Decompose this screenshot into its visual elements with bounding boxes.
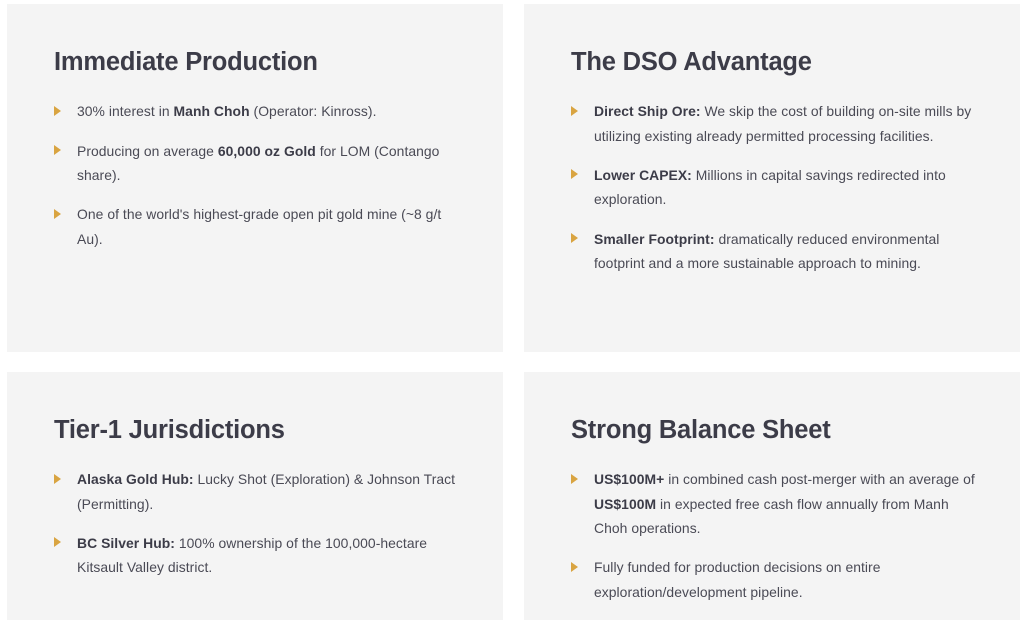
list-item: US$100M+ in combined cash post-merger wi… [571, 467, 980, 540]
list-item-text: 30% interest in Manh Choh (Operator: Kin… [77, 103, 376, 119]
list-item-text: BC Silver Hub: 100% ownership of the 100… [77, 535, 427, 575]
list-item: 30% interest in Manh Choh (Operator: Kin… [54, 99, 463, 123]
triangle-right-icon [54, 106, 61, 116]
list-item: Direct Ship Ore: We skip the cost of bui… [571, 99, 980, 148]
list-item-text: US$100M+ in combined cash post-merger wi… [594, 471, 975, 536]
triangle-right-icon [54, 209, 61, 219]
list-item-text: Lower CAPEX: Millions in capital savings… [594, 167, 946, 207]
list-item: Smaller Footprint: dramatically reduced … [571, 227, 980, 276]
triangle-right-icon [54, 145, 61, 155]
card-immediate-production: Immediate Production 30% interest in Man… [7, 4, 503, 352]
list-item: One of the world's highest-grade open pi… [54, 202, 463, 251]
card-title: Immediate Production [54, 48, 463, 77]
list-item: BC Silver Hub: 100% ownership of the 100… [54, 531, 463, 580]
card-the-dso-advantage: The DSO Advantage Direct Ship Ore: We sk… [524, 4, 1020, 352]
triangle-right-icon [571, 474, 578, 484]
list-item: Producing on average 60,000 oz Gold for … [54, 139, 463, 188]
list-item: Lower CAPEX: Millions in capital savings… [571, 163, 980, 212]
triangle-right-icon [571, 562, 578, 572]
bullet-list: Direct Ship Ore: We skip the cost of bui… [571, 99, 980, 275]
triangle-right-icon [571, 169, 578, 179]
triangle-right-icon [54, 474, 61, 484]
card-tier-1-jurisdictions: Tier-1 Jurisdictions Alaska Gold Hub: Lu… [7, 372, 503, 620]
list-item-text: Alaska Gold Hub: Lucky Shot (Exploration… [77, 471, 455, 511]
list-item: Alaska Gold Hub: Lucky Shot (Exploration… [54, 467, 463, 516]
card-title: Tier-1 Jurisdictions [54, 416, 463, 445]
list-item-text: One of the world's highest-grade open pi… [77, 206, 441, 246]
triangle-right-icon [54, 537, 61, 547]
list-item: Fully funded for production decisions on… [571, 555, 980, 604]
card-strong-balance-sheet: Strong Balance Sheet US$100M+ in combine… [524, 372, 1020, 620]
list-item-text: Smaller Footprint: dramatically reduced … [594, 231, 939, 271]
triangle-right-icon [571, 233, 578, 243]
bullet-list: Alaska Gold Hub: Lucky Shot (Exploration… [54, 467, 463, 579]
list-item-text: Producing on average 60,000 oz Gold for … [77, 143, 439, 183]
list-item-text: Direct Ship Ore: We skip the cost of bui… [594, 103, 971, 143]
feature-card-grid: Immediate Production 30% interest in Man… [0, 0, 1024, 620]
bullet-list: US$100M+ in combined cash post-merger wi… [571, 467, 980, 603]
bullet-list: 30% interest in Manh Choh (Operator: Kin… [54, 99, 463, 250]
card-title: The DSO Advantage [571, 48, 980, 77]
card-title: Strong Balance Sheet [571, 416, 980, 445]
triangle-right-icon [571, 106, 578, 116]
list-item-text: Fully funded for production decisions on… [594, 559, 881, 599]
